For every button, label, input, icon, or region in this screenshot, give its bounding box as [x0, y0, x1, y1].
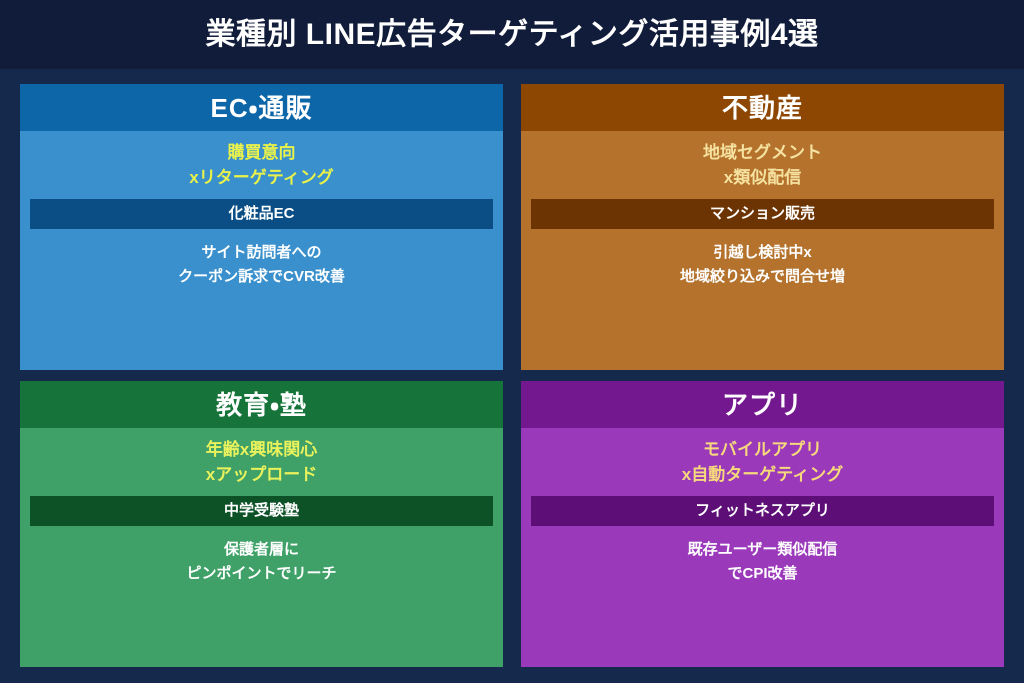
page-title: 業種別 LINE広告ターゲティング活用事例4選	[205, 20, 818, 50]
card-industry-label: EC・通販	[211, 95, 313, 121]
card-body-education: 年齢x興味関心 xアップロード 中学受験塾 保護者層に ピンポイントでリーチ	[20, 428, 503, 667]
case-card-app: アプリ モバイルアプリ x自動ターゲティング フィットネスアプリ 既存ユーザー類…	[521, 381, 1004, 667]
card-targeting-tagline: 購買意向 xリターゲティング	[30, 141, 493, 190]
case-card-ec: EC・通販 購買意向 xリターゲティング 化粧品EC サイト訪問者への クーポン…	[20, 84, 503, 370]
infographic-poster: 業種別 LINE広告ターゲティング活用事例4選 EC・通販 購買意向 xリターゲ…	[0, 0, 1024, 683]
card-example-badge: 化粧品EC	[30, 199, 493, 229]
case-card-grid: EC・通販 購買意向 xリターゲティング 化粧品EC サイト訪問者への クーポン…	[0, 69, 1024, 683]
card-result-text: サイト訪問者への クーポン訴求でCVR改善	[30, 241, 493, 288]
card-industry-label: アプリ	[722, 392, 803, 418]
card-result-text: 既存ユーザー類似配信 でCPI改善	[531, 538, 994, 585]
card-body-ec: 購買意向 xリターゲティング 化粧品EC サイト訪問者への クーポン訴求でCVR…	[20, 131, 503, 370]
card-industry-label: 教育・塾	[216, 392, 307, 418]
card-example-badge: フィットネスアプリ	[531, 496, 994, 526]
case-card-real-estate: 不動産 地域セグメント x類似配信 マンション販売 引越し検討中x 地域絞り込み…	[521, 84, 1004, 370]
card-targeting-tagline: 地域セグメント x類似配信	[531, 141, 994, 190]
card-result-text: 引越し検討中x 地域絞り込みで問合せ増	[531, 241, 994, 288]
card-result-text: 保護者層に ピンポイントでリーチ	[30, 538, 493, 585]
card-targeting-tagline: モバイルアプリ x自動ターゲティング	[531, 438, 994, 487]
card-body-app: モバイルアプリ x自動ターゲティング フィットネスアプリ 既存ユーザー類似配信 …	[521, 428, 1004, 667]
card-targeting-tagline: 年齢x興味関心 xアップロード	[30, 438, 493, 487]
card-example-badge: 中学受験塾	[30, 496, 493, 526]
card-header-real-estate: 不動産	[521, 84, 1004, 131]
card-industry-label: 不動産	[722, 95, 803, 121]
card-header-app: アプリ	[521, 381, 1004, 428]
title-band: 業種別 LINE広告ターゲティング活用事例4選	[0, 0, 1024, 69]
card-header-ec: EC・通販	[20, 84, 503, 131]
card-header-education: 教育・塾	[20, 381, 503, 428]
case-card-education: 教育・塾 年齢x興味関心 xアップロード 中学受験塾 保護者層に ピンポイントで…	[20, 381, 503, 667]
card-example-badge: マンション販売	[531, 199, 994, 229]
card-body-real-estate: 地域セグメント x類似配信 マンション販売 引越し検討中x 地域絞り込みで問合せ…	[521, 131, 1004, 370]
